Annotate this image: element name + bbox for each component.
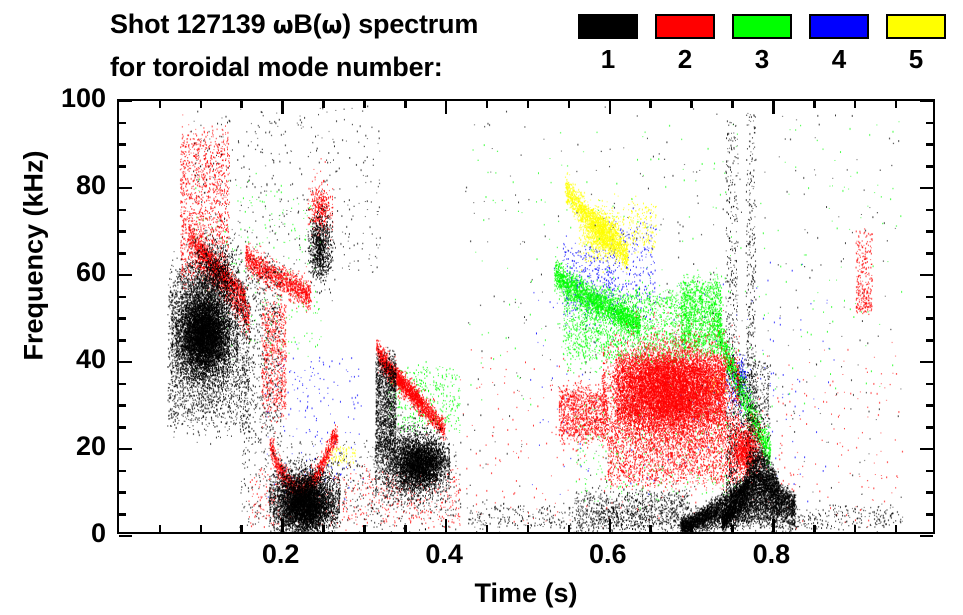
y-tick-right-20 xyxy=(920,448,933,451)
y-tick-label-40: 40 xyxy=(76,346,106,373)
y-tick-label-0: 0 xyxy=(91,520,106,547)
y-tick-right-95 xyxy=(926,122,933,125)
y-tick-40 xyxy=(119,361,132,364)
x-tick-0.95 xyxy=(895,525,898,532)
y-tick-right-45 xyxy=(926,339,933,342)
legend-swatch-mode-2 xyxy=(655,14,715,39)
legend-label-mode-4: 4 xyxy=(809,46,869,72)
x-tick-0.45 xyxy=(486,525,489,532)
x-tick-top-0.60 xyxy=(609,101,612,114)
title-suffix: ) spectrum xyxy=(342,9,478,39)
figure-title-line-1: Shot 127139 ωB(ω) spectrum xyxy=(110,9,478,40)
y-tick-right-60 xyxy=(920,274,933,277)
y-tick-0 xyxy=(119,535,132,538)
legend-swatch-mode-5 xyxy=(886,14,946,39)
x-tick-0.15 xyxy=(240,525,243,532)
x-tick-0.25 xyxy=(322,525,325,532)
y-tick-right-80 xyxy=(920,187,933,190)
x-tick-top-0.05 xyxy=(159,101,162,108)
legend-entry-mode-4: 4 xyxy=(809,14,869,39)
legend-label-mode-5: 5 xyxy=(886,46,946,72)
spectrogram-scatter-canvas xyxy=(119,101,933,532)
y-tick-60 xyxy=(119,274,132,277)
y-tick-right-40 xyxy=(920,361,933,364)
y-tick-70 xyxy=(119,230,126,233)
y-tick-labels: 020406080100 xyxy=(24,99,106,534)
y-tick-90 xyxy=(119,143,126,146)
x-tick-0.65 xyxy=(649,525,652,532)
x-tick-0.85 xyxy=(813,525,816,532)
x-tick-0.20 xyxy=(281,519,284,532)
y-tick-15 xyxy=(119,470,126,473)
y-tick-25 xyxy=(119,426,126,429)
x-tick-top-0.65 xyxy=(649,101,652,108)
x-tick-0.70 xyxy=(690,525,693,532)
legend: 12345 xyxy=(578,14,950,90)
y-tick-95 xyxy=(119,122,126,125)
x-tick-label-0.8: 0.8 xyxy=(726,541,816,568)
y-tick-label-60: 60 xyxy=(76,259,106,286)
legend-entry-mode-1: 1 xyxy=(578,14,638,39)
x-tick-top-0.15 xyxy=(240,101,243,108)
y-tick-right-75 xyxy=(926,209,933,212)
y-tick-100 xyxy=(119,100,132,103)
x-tick-label-0.6: 0.6 xyxy=(563,541,653,568)
y-tick-45 xyxy=(119,339,126,342)
y-tick-50 xyxy=(119,317,126,320)
legend-swatch-mode-3 xyxy=(732,14,792,39)
y-tick-5 xyxy=(119,513,126,516)
y-tick-right-70 xyxy=(926,230,933,233)
y-tick-right-30 xyxy=(926,404,933,407)
x-tick-top-0.70 xyxy=(690,101,693,108)
x-tick-top-0.45 xyxy=(486,101,489,108)
x-tick-0.80 xyxy=(772,519,775,532)
y-tick-10 xyxy=(119,491,126,494)
legend-entry-mode-5: 5 xyxy=(886,14,946,39)
y-tick-right-15 xyxy=(926,470,933,473)
figure-title-line-2: for toroidal mode number: xyxy=(110,52,443,83)
y-tick-65 xyxy=(119,252,126,255)
omega-symbol-2: ω xyxy=(321,11,342,39)
legend-label-mode-2: 2 xyxy=(655,46,715,72)
y-tick-right-35 xyxy=(926,383,933,386)
x-tick-top-0.55 xyxy=(568,101,571,108)
x-tick-0.75 xyxy=(731,525,734,532)
legend-swatch-mode-1 xyxy=(578,14,638,39)
x-tick-label-0.2: 0.2 xyxy=(236,541,326,568)
y-tick-right-85 xyxy=(926,165,933,168)
legend-swatch-mode-4 xyxy=(809,14,869,39)
y-tick-right-25 xyxy=(926,426,933,429)
x-tick-0.05 xyxy=(159,525,162,532)
x-tick-0.60 xyxy=(609,519,612,532)
y-tick-55 xyxy=(119,296,126,299)
y-tick-right-5 xyxy=(926,513,933,516)
y-tick-20 xyxy=(119,448,132,451)
x-tick-top-0.10 xyxy=(200,101,203,108)
y-tick-right-10 xyxy=(926,491,933,494)
y-tick-85 xyxy=(119,165,126,168)
y-tick-right-100 xyxy=(920,100,933,103)
y-tick-75 xyxy=(119,209,126,212)
x-tick-top-0.90 xyxy=(854,101,857,108)
legend-label-mode-3: 3 xyxy=(732,46,792,72)
y-tick-right-55 xyxy=(926,296,933,299)
y-tick-right-50 xyxy=(926,317,933,320)
y-tick-80 xyxy=(119,187,132,190)
title-prefix: Shot 127139 xyxy=(110,9,273,39)
x-tick-top-0.80 xyxy=(772,101,775,114)
x-tick-0.50 xyxy=(527,525,530,532)
spectrogram-figure: Shot 127139 ωB(ω) spectrum for toroidal … xyxy=(0,0,963,615)
x-axis-title: Time (s) xyxy=(117,578,935,609)
y-tick-right-90 xyxy=(926,143,933,146)
legend-entry-mode-3: 3 xyxy=(732,14,792,39)
y-tick-label-20: 20 xyxy=(76,433,106,460)
title-mid: B( xyxy=(293,9,321,39)
x-tick-top-0.85 xyxy=(813,101,816,108)
y-tick-35 xyxy=(119,383,126,386)
x-tick-0.10 xyxy=(200,525,203,532)
y-tick-label-80: 80 xyxy=(76,172,106,199)
x-tick-0.55 xyxy=(568,525,571,532)
x-tick-top-0.50 xyxy=(527,101,530,108)
x-tick-0.90 xyxy=(854,525,857,532)
x-tick-top-0.25 xyxy=(322,101,325,108)
x-tick-top-0.40 xyxy=(445,101,448,114)
x-tick-labels: 0.20.40.60.8 xyxy=(117,541,935,575)
y-tick-right-0 xyxy=(920,535,933,538)
x-tick-top-0.75 xyxy=(731,101,734,108)
omega-symbol-1: ω xyxy=(273,11,294,39)
x-tick-top-0.35 xyxy=(404,101,407,108)
x-tick-0.40 xyxy=(445,519,448,532)
x-tick-top-0.20 xyxy=(281,101,284,114)
x-tick-top-0.30 xyxy=(363,101,366,108)
legend-entry-mode-2: 2 xyxy=(655,14,715,39)
x-tick-0.30 xyxy=(363,525,366,532)
legend-label-mode-1: 1 xyxy=(578,46,638,72)
y-tick-label-100: 100 xyxy=(61,85,106,112)
x-tick-label-0.4: 0.4 xyxy=(399,541,489,568)
x-tick-0.35 xyxy=(404,525,407,532)
plot-frame xyxy=(117,99,935,534)
x-tick-top-0.95 xyxy=(895,101,898,108)
y-tick-30 xyxy=(119,404,126,407)
y-tick-right-65 xyxy=(926,252,933,255)
